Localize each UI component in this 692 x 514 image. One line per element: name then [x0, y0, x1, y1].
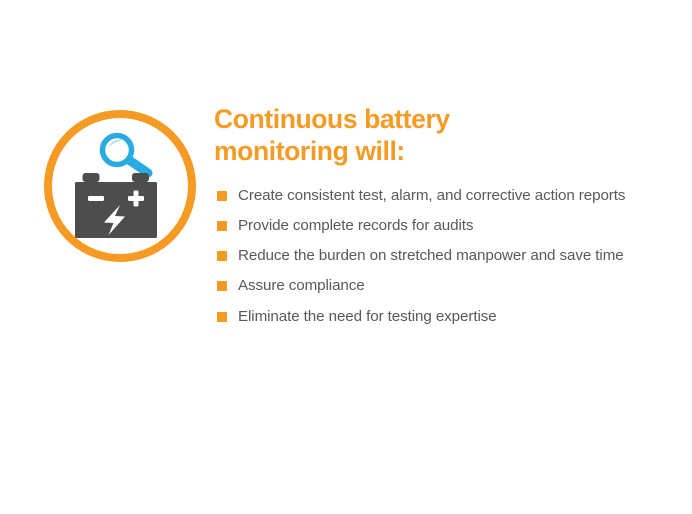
list-item: Create consistent test, alarm, and corre… [214, 186, 664, 205]
bullet-square-icon [217, 281, 227, 291]
bullet-square-icon [217, 312, 227, 322]
battery-monitoring-icon [40, 106, 200, 266]
battery-terminal-positive [132, 173, 149, 182]
list-item: Provide complete records for audits [214, 216, 664, 235]
battery-terminal-negative [83, 173, 100, 182]
list-item-label: Create consistent test, alarm, and corre… [238, 186, 664, 205]
list-item-label: Reduce the burden on stretched manpower … [238, 246, 664, 265]
magnifier-handle [129, 160, 148, 173]
bullet-square-icon [217, 251, 227, 261]
battery-icon [75, 173, 157, 238]
list-item-label: Eliminate the need for testing expertise [238, 307, 664, 326]
page-title: Continuous battery monitoring will: [214, 104, 664, 168]
list-item: Eliminate the need for testing expertise [214, 307, 664, 326]
list-item: Assure compliance [214, 276, 664, 295]
bullet-square-icon [217, 221, 227, 231]
list-item-label: Provide complete records for audits [238, 216, 664, 235]
plus-symbol-vertical [134, 191, 139, 207]
list-item-label: Assure compliance [238, 276, 664, 295]
magnifying-glass-icon [103, 136, 149, 174]
bullet-square-icon [217, 191, 227, 201]
text-content: Continuous battery monitoring will: Crea… [214, 104, 664, 326]
minus-symbol [88, 196, 104, 201]
magnifier-lens [103, 136, 132, 165]
list-item: Reduce the burden on stretched manpower … [214, 246, 664, 265]
infographic-slide: Continuous battery monitoring will: Crea… [0, 0, 692, 514]
benefits-list: Create consistent test, alarm, and corre… [214, 186, 664, 326]
